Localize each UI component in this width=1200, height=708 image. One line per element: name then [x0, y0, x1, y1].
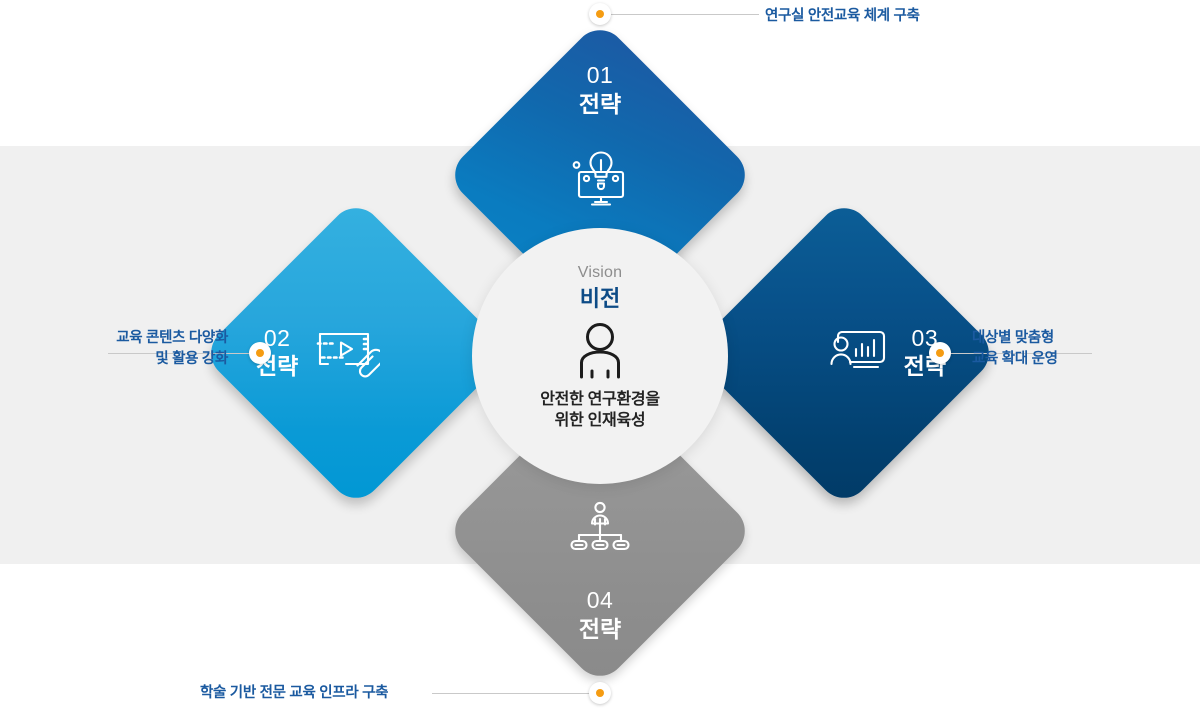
callout-02-line2: 및 활용 강화 [0, 349, 228, 370]
connector-dot-02 [249, 342, 271, 364]
vision-description-line1: 안전한 연구환경을 [540, 389, 660, 410]
callout-label-02: 교육 콘텐츠 다양화 및 활용 강화 [0, 328, 228, 370]
connector-dot-01 [589, 3, 611, 25]
callout-03-line1: 대상별 맞춤형 [972, 328, 1200, 349]
connector-line-04 [432, 693, 590, 694]
vision-circle: Vision 비전 안전한 연구환경을 위한 인재육성 [472, 228, 728, 484]
callout-04-line1: 학술 기반 전문 교육 인프라 구축 [200, 683, 388, 704]
callout-01-line1: 연구실 안전교육 체계 구축 [765, 6, 920, 27]
person-icon [573, 321, 627, 384]
callout-label-01: 연구실 안전교육 체계 구축 [765, 6, 920, 27]
connector-line-01 [611, 14, 759, 15]
callout-03-line2: 교육 확대 운영 [972, 349, 1200, 370]
vision-strategy-diagram: 01 전략 [0, 0, 1200, 708]
vision-description-line2: 위한 인재육성 [540, 410, 660, 431]
callout-02-line1: 교육 콘텐츠 다양화 [0, 328, 228, 349]
vision-label-en: Vision [578, 264, 623, 282]
vision-label-ko: 비전 [580, 285, 620, 313]
connector-dot-04 [589, 682, 611, 704]
vision-description: 안전한 연구환경을 위한 인재육성 [540, 389, 660, 431]
connector-dot-03 [929, 342, 951, 364]
callout-label-03: 대상별 맞춤형 교육 확대 운영 [972, 328, 1200, 370]
callout-label-04: 학술 기반 전문 교육 인프라 구축 [200, 683, 388, 704]
